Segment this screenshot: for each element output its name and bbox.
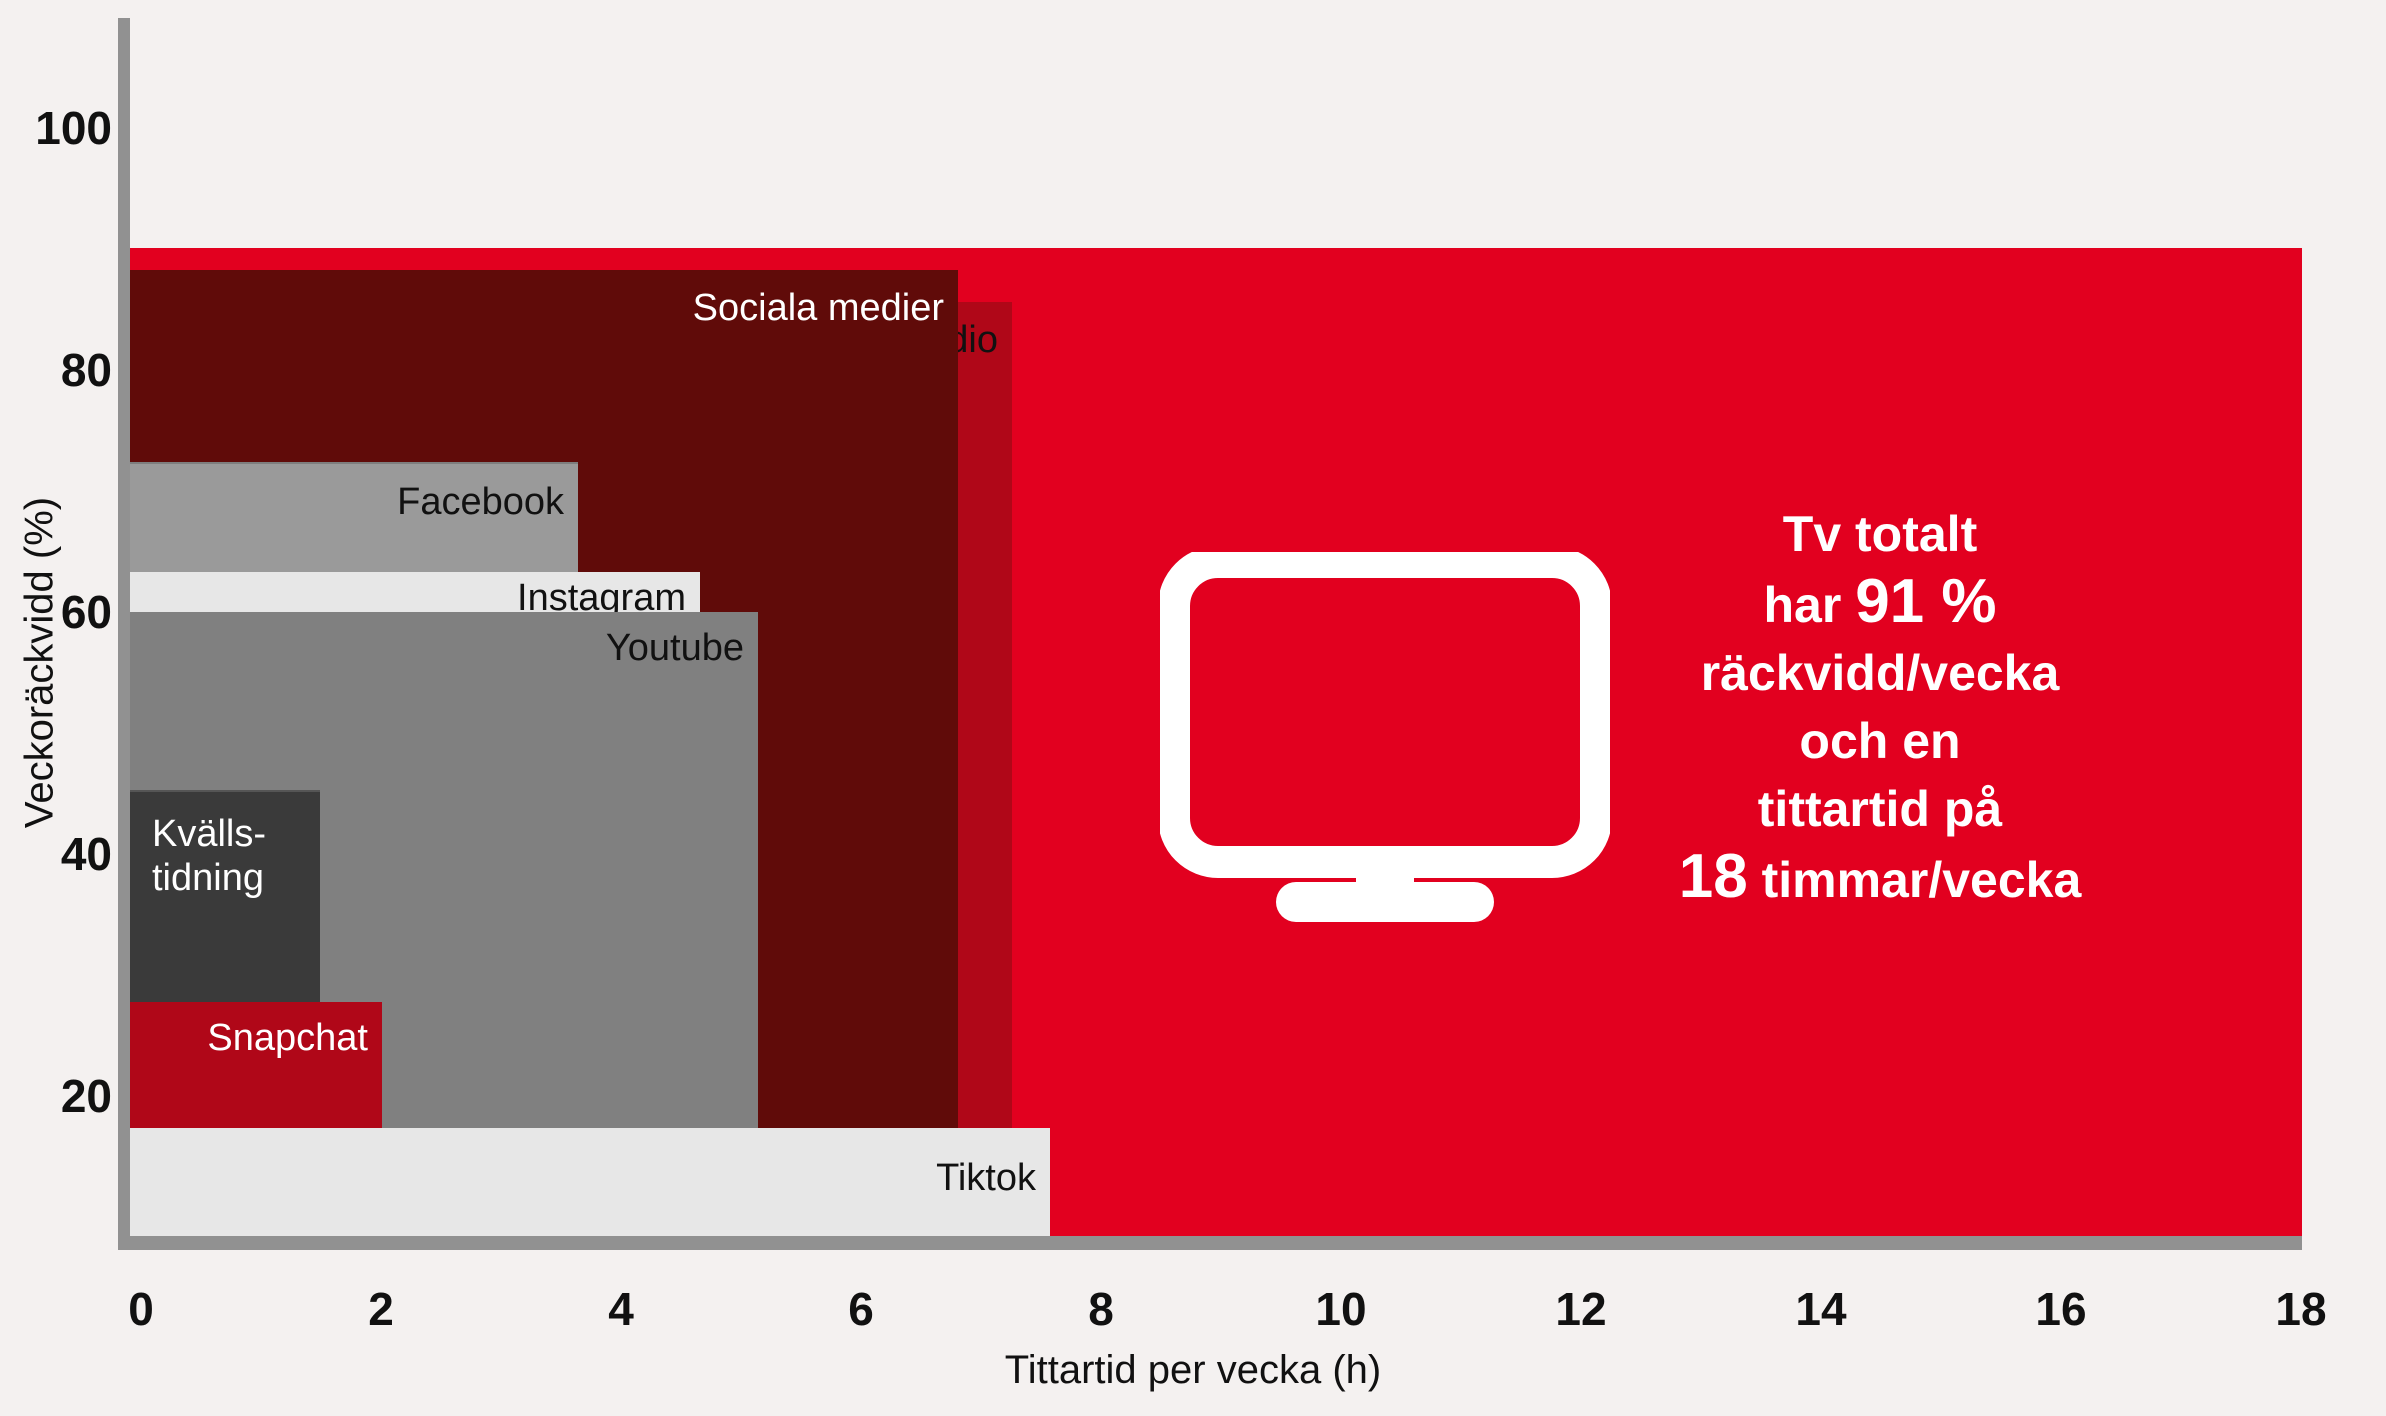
tv-callout-text: Tv totalt har 91 % räckvidd/vecka och en… [1650,500,2110,914]
bar-tiktok: Tiktok [130,1128,1050,1236]
callout-line-6: 18 timmar/vecka [1650,843,2110,914]
y-tick-100: 100 [20,101,112,155]
x-tick-8: 8 [1088,1282,1114,1336]
x-tick-4: 4 [608,1282,634,1336]
callout-hours-value: 18 [1679,842,1748,911]
y-axis-line [118,18,130,1236]
y-tick-20: 20 [20,1069,112,1123]
callout-line-6-post: timmar/vecka [1748,852,2082,908]
y-axis-title: Veckoräckvidd (%) [18,383,63,943]
x-axis-line [118,1236,2302,1250]
callout-line-4: och en [1650,707,2110,775]
x-tick-0: 0 [128,1282,154,1336]
callout-reach-value: 91 % [1855,567,1996,636]
bar-label-sociala-medier: Sociala medier [693,286,944,330]
x-tick-16: 16 [2035,1282,2086,1336]
chart-canvas: Radio Sociala medier Facebook Instagram … [0,0,2386,1416]
callout-line-1: Tv totalt [1650,500,2110,568]
x-tick-2: 2 [368,1282,394,1336]
callout-line-2-pre: har [1763,577,1855,633]
bar-label-snapchat: Snapchat [207,1016,368,1060]
callout-line-3: räckvidd/vecka [1650,639,2110,707]
bar-label-tiktok: Tiktok [936,1156,1036,1200]
tv-icon [1160,552,1610,922]
x-tick-6: 6 [848,1282,874,1336]
x-tick-10: 10 [1315,1282,1366,1336]
x-axis-title: Tittartid per vecka (h) [0,1348,2386,1393]
callout-line-2: har 91 % [1650,568,2110,639]
x-tick-12: 12 [1555,1282,1606,1336]
x-tick-18: 18 [2275,1282,2326,1336]
x-tick-14: 14 [1795,1282,1846,1336]
bar-label-facebook: Facebook [397,480,564,524]
bar-label-kvallstidning: Kvälls- tidning [152,812,266,900]
callout-line-5: tittartid på [1650,775,2110,843]
bar-label-youtube: Youtube [606,626,744,670]
